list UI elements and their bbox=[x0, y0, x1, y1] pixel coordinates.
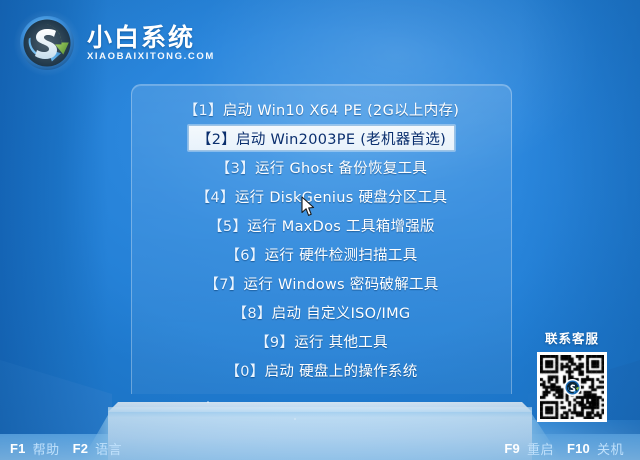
boot-menu-item-label: 启动 Win10 X64 PE (2G以上内存) bbox=[223, 99, 459, 120]
boot-menu-item-key: 【0】 bbox=[225, 360, 264, 381]
boot-menu-item-3[interactable]: 【3】运行 Ghost 备份恢复工具 bbox=[207, 154, 436, 180]
brand-domain: XIAOBAIXITONG.COM bbox=[87, 52, 215, 62]
boot-menu-item-1[interactable]: 【1】启动 Win10 X64 PE (2G以上内存) bbox=[175, 96, 469, 122]
boot-menu-item-4[interactable]: 【4】运行 DiskGenius 硬盘分区工具 bbox=[187, 183, 457, 209]
boot-menu-item-6[interactable]: 【6】运行 硬件检测扫描工具 bbox=[216, 241, 426, 267]
boot-menu-item-9[interactable]: 【9】运行 其他工具 bbox=[246, 328, 397, 354]
boot-menu-item-key: 【2】 bbox=[197, 128, 236, 149]
recycle-circle-icon bbox=[18, 14, 76, 72]
boot-menu-item-label: 运行 Ghost 备份恢复工具 bbox=[255, 157, 427, 178]
boot-menu-item-label: 启动 Win2003PE (老机器首选) bbox=[236, 128, 446, 149]
boot-menu-item-key: 【1】 bbox=[184, 99, 223, 120]
boot-menu-item-label: 启动 自定义ISO/IMG bbox=[272, 302, 411, 323]
status-key-f2[interactable]: F2 bbox=[73, 441, 89, 456]
boot-menu-item-7[interactable]: 【7】运行 Windows 密码破解工具 bbox=[195, 270, 447, 296]
boot-menu-item-key: 【4】 bbox=[196, 186, 235, 207]
status-bar-left: F1帮助F2语言 bbox=[10, 439, 128, 458]
boot-menu-item-label: 启动 硬盘上的操作系统 bbox=[265, 360, 418, 381]
boot-menu-list[interactable]: 【1】启动 Win10 X64 PE (2G以上内存)【2】启动 Win2003… bbox=[131, 96, 512, 386]
boot-menu-item-2[interactable]: 【2】启动 Win2003PE (老机器首选) bbox=[188, 125, 455, 151]
boot-menu-item-key: 【3】 bbox=[216, 157, 255, 178]
status-key-f10[interactable]: F10 bbox=[567, 441, 590, 456]
contact-support-label: 联系客服 bbox=[545, 328, 599, 347]
boot-menu-item-label: 运行 MaxDos 工具箱增强版 bbox=[247, 215, 435, 236]
status-key-f9[interactable]: F9 bbox=[504, 441, 520, 456]
boot-menu-item-10[interactable]: 【0】启动 硬盘上的操作系统 bbox=[216, 357, 426, 383]
qr-center-logo-icon bbox=[564, 379, 581, 396]
brand-logo: 小白系统 XIAOBAIXITONG.COM bbox=[18, 14, 215, 72]
boot-menu-screen: 小白系统 XIAOBAIXITONG.COM 【1】启动 Win10 X64 P… bbox=[0, 0, 640, 460]
boot-menu-item-key: 【7】 bbox=[204, 273, 243, 294]
boot-menu-item-label: 运行 Windows 密码破解工具 bbox=[244, 273, 439, 294]
status-label-f10: 关机 bbox=[597, 439, 624, 458]
status-bar-right: F9重启F10关机 bbox=[504, 439, 630, 458]
status-label-f1: 帮助 bbox=[33, 439, 60, 458]
mouse-pointer-icon bbox=[301, 196, 315, 217]
status-label-f2: 语言 bbox=[95, 439, 122, 458]
brand-name: 小白系统 bbox=[87, 25, 215, 50]
boot-menu-item-key: 【6】 bbox=[225, 244, 264, 265]
status-bar: F1帮助F2语言 F9重启F10关机 bbox=[0, 436, 640, 460]
qr-code[interactable] bbox=[537, 352, 607, 422]
contact-support[interactable]: 联系客服 bbox=[534, 328, 610, 422]
status-label-f9: 重启 bbox=[527, 439, 554, 458]
dust-speck bbox=[294, 418, 296, 420]
boot-menu-item-label: 运行 其他工具 bbox=[294, 331, 388, 352]
status-key-f1[interactable]: F1 bbox=[10, 441, 26, 456]
boot-menu-item-key: 【9】 bbox=[255, 331, 294, 352]
boot-menu-item-key: 【8】 bbox=[233, 302, 272, 323]
boot-menu-item-label: 运行 硬件检测扫描工具 bbox=[265, 244, 418, 265]
boot-menu-item-key: 【5】 bbox=[208, 215, 247, 236]
boot-menu-item-8[interactable]: 【8】启动 自定义ISO/IMG bbox=[224, 299, 420, 325]
dust-speck bbox=[207, 401, 209, 403]
boot-menu-item-5[interactable]: 【5】运行 MaxDos 工具箱增强版 bbox=[199, 212, 444, 238]
boot-menu-item-label: 运行 DiskGenius 硬盘分区工具 bbox=[235, 186, 447, 207]
